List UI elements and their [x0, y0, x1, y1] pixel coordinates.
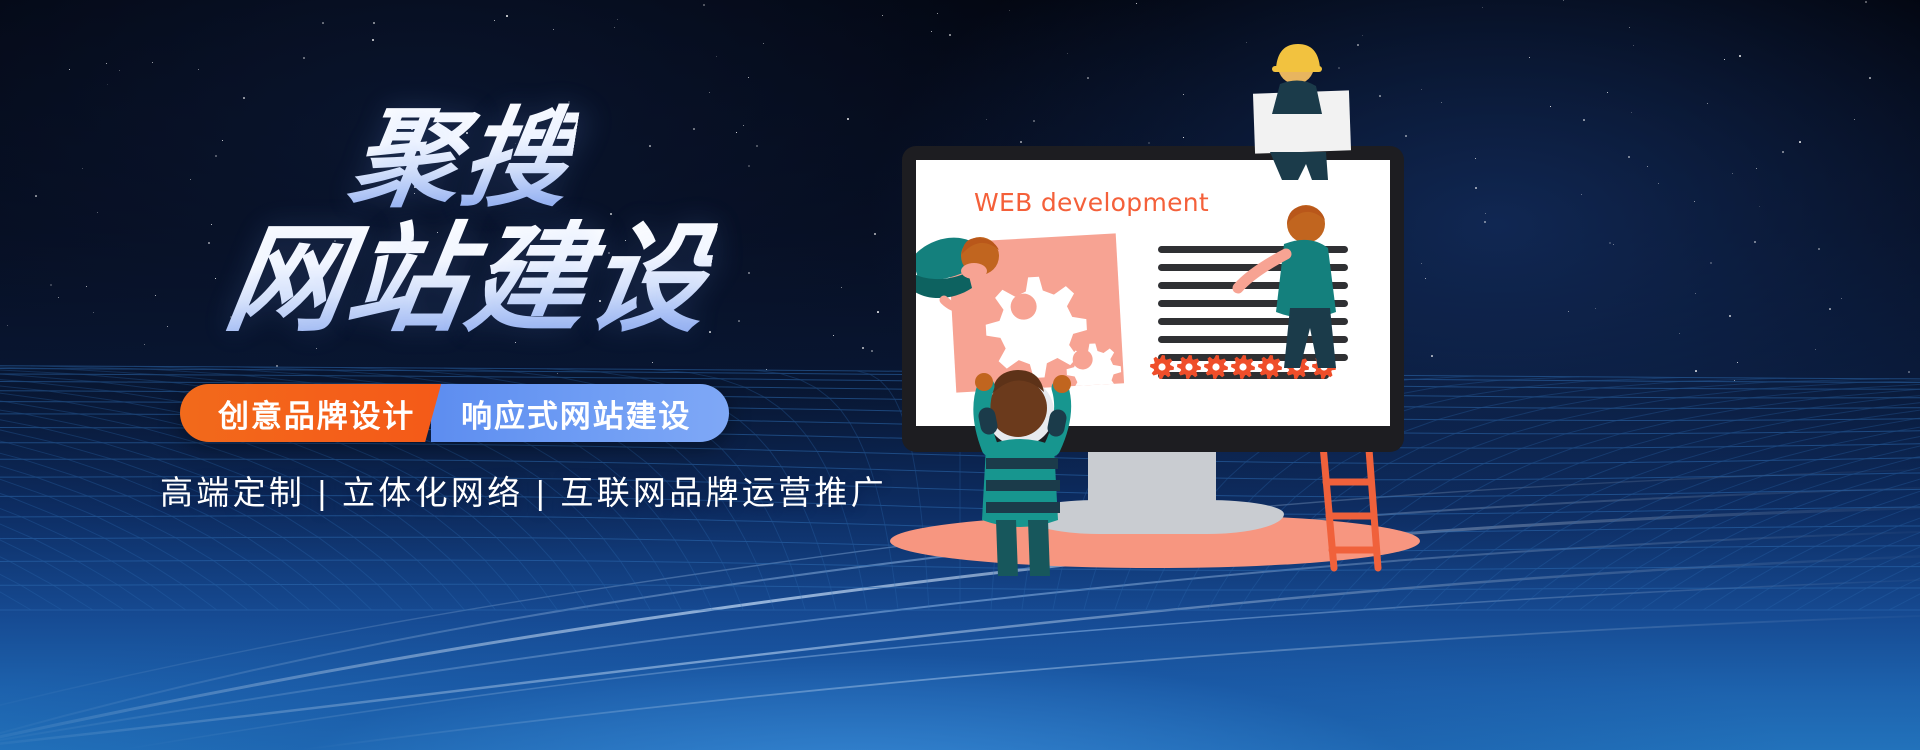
star [1583, 119, 1585, 121]
star [1739, 55, 1741, 57]
star [1529, 57, 1530, 58]
star [1658, 183, 1659, 184]
star [1854, 119, 1855, 120]
service-pill-group: 创意品牌设计 响应式网站建设 [180, 384, 729, 442]
person-painter [916, 216, 1028, 336]
star [1724, 59, 1725, 60]
star [1732, 173, 1733, 174]
star [1633, 45, 1634, 46]
person-pointing [1232, 196, 1356, 376]
star [1136, 3, 1137, 4]
brand-title-line2: 网站建设 [218, 218, 719, 343]
star [1631, 112, 1632, 113]
person-child-lifting [956, 350, 1086, 580]
star [1865, 1, 1867, 3]
star [1581, 194, 1582, 195]
star [1754, 241, 1756, 243]
star [1613, 244, 1614, 245]
star [1869, 77, 1871, 79]
star [1629, 27, 1630, 28]
star [1694, 201, 1695, 202]
star [1707, 103, 1708, 104]
star [1756, 168, 1757, 169]
star [1829, 308, 1831, 310]
star [1695, 293, 1696, 294]
pill-responsive-web-build[interactable]: 响应式网站建设 [431, 384, 729, 442]
tagline: 高端定制 | 立体化网络 | 互联网品牌运营推广 [160, 466, 887, 514]
star [1484, 221, 1486, 223]
star [1607, 92, 1608, 93]
person-with-blueprint [1230, 34, 1370, 182]
star [1628, 156, 1630, 158]
star [1568, 311, 1569, 312]
screen-heading: WEB development [974, 188, 1209, 217]
headline-block: 聚搜 网站建设 创意品牌设计 响应式网站建设 高端定制 | 立体化网络 | 互联… [0, 0, 900, 750]
pill-creative-brand-design[interactable]: 创意品牌设计 [180, 384, 441, 442]
star [1799, 141, 1801, 143]
star [1595, 308, 1596, 309]
web-development-illustration: WEB development [860, 20, 1480, 600]
brand-title-line1: 聚搜 [343, 102, 581, 216]
star [1710, 262, 1712, 264]
star [1818, 248, 1820, 250]
star [1647, 166, 1648, 167]
hero-banner: 聚搜 网站建设 创意品牌设计 响应式网站建设 高端定制 | 立体化网络 | 互联… [0, 0, 1920, 750]
star [1482, 7, 1483, 8]
star [1609, 242, 1611, 244]
star [1485, 213, 1486, 214]
star [1759, 206, 1760, 207]
star [1841, 298, 1842, 299]
star [1563, 0, 1564, 1]
star [1009, 10, 1010, 11]
star [1782, 151, 1784, 153]
star [1729, 315, 1731, 317]
